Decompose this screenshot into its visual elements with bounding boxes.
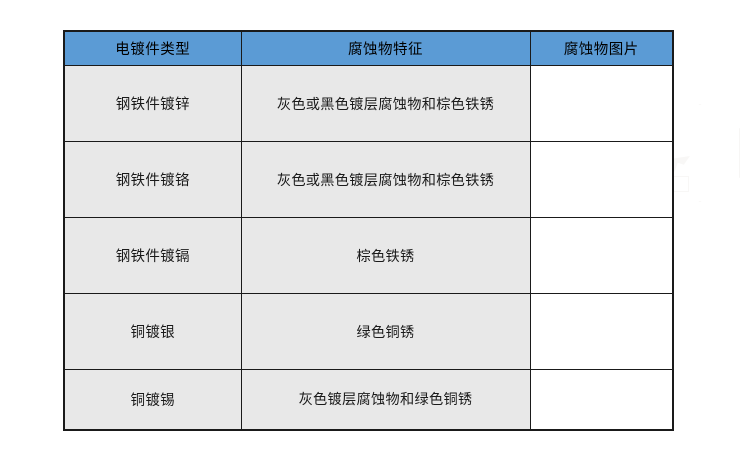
cell-corrosion-feature: 灰色或黑色镀层腐蚀物和棕色铁锈 <box>241 66 530 142</box>
cell-plating-type: 钢铁件镀锌 <box>64 66 241 142</box>
header-cell-corrosion-feature: 腐蚀物特征 <box>241 31 530 66</box>
header-cell-plating-type: 电镀件类型 <box>64 31 241 66</box>
table-body: 钢铁件镀锌 灰色或黑色镀层腐蚀物和棕色铁锈 钢铁件镀铬 灰色或黑色镀层腐蚀物和棕… <box>64 66 673 430</box>
cell-corrosion-feature: 灰色或黑色镀层腐蚀物和棕色铁锈 <box>241 142 530 218</box>
cell-corrosion-feature: 灰色镀层腐蚀物和绿色铜锈 <box>241 370 530 430</box>
cell-corrosion-feature: 棕色铁锈 <box>241 218 530 294</box>
table-row: 钢铁件镀铬 灰色或黑色镀层腐蚀物和棕色铁锈 <box>64 142 673 218</box>
cell-plating-type: 钢铁件镀镉 <box>64 218 241 294</box>
electroplated-part-corrosion-table: 电镀件类型 腐蚀物特征 腐蚀物图片 钢铁件镀锌 灰色或黑色镀层腐蚀物和棕色铁锈 … <box>63 30 674 431</box>
cell-plating-type: 钢铁件镀铬 <box>64 142 241 218</box>
table-header: 电镀件类型 腐蚀物特征 腐蚀物图片 <box>64 31 673 66</box>
cell-corrosion-image <box>530 370 673 430</box>
cell-corrosion-image <box>530 142 673 218</box>
table-row: 铜镀锡 灰色镀层腐蚀物和绿色铜锈 <box>64 370 673 430</box>
table-row: 铜镀银 绿色铜锈 <box>64 294 673 370</box>
header-cell-corrosion-image: 腐蚀物图片 <box>530 31 673 66</box>
cell-corrosion-image <box>530 294 673 370</box>
cell-corrosion-feature: 绿色铜锈 <box>241 294 530 370</box>
table-row: 钢铁件镀锌 灰色或黑色镀层腐蚀物和棕色铁锈 <box>64 66 673 142</box>
table-row: 钢铁件镀镉 棕色铁锈 <box>64 218 673 294</box>
cell-plating-type: 铜镀银 <box>64 294 241 370</box>
cell-corrosion-image <box>530 218 673 294</box>
cell-corrosion-image <box>530 66 673 142</box>
cell-plating-type: 铜镀锡 <box>64 370 241 430</box>
header-row: 电镀件类型 腐蚀物特征 腐蚀物图片 <box>64 31 673 66</box>
